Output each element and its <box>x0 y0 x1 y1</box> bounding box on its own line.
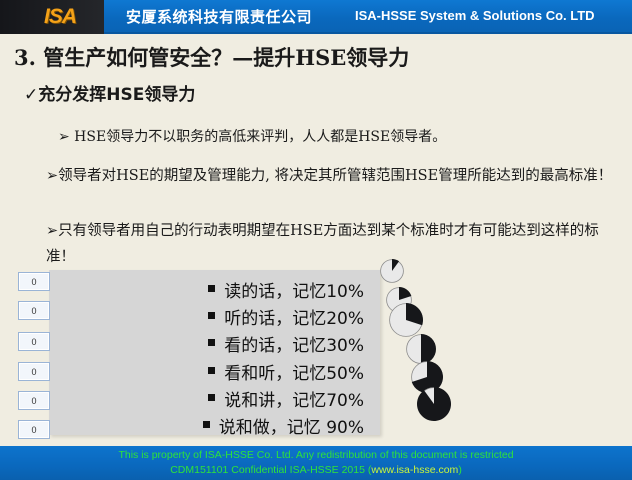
bullet-point-3: ➢只有领导者用自己的行动表明期望在HSE方面达到某个标准时才有可能达到这样的标准… <box>46 218 618 270</box>
image-placeholder-box[interactable]: 0 <box>18 301 50 320</box>
memory-row: 听的话，记忆20% <box>49 303 380 330</box>
image-placeholder-box[interactable]: 0 <box>18 272 50 291</box>
footer-copyright-line: This is property of ISA-HSSE Co. Ltd. An… <box>0 449 632 461</box>
slide-title: 3. 管生产如何管安全？—提升HSE领导力 <box>14 42 409 72</box>
page-header: ISA 安厦系统科技有限责任公司 ISA-HSSE System & Solut… <box>0 0 632 34</box>
footer-website-link[interactable]: www.isa-hsse.com <box>371 464 458 476</box>
memory-row-label: 读的话，记忆10% <box>224 277 364 302</box>
memory-row-label: 看的话，记忆30% <box>224 331 364 356</box>
square-bullet-icon <box>208 367 215 374</box>
footer-doc-id: CDM151101 Confidential ISA-HSSE 2015 ( <box>170 464 371 476</box>
memory-row: 说和做，记忆 90% <box>49 412 380 439</box>
bullet-point-1: ➢ HSE领导力不以职务的高低来评判，人人都是HSE领导者。 <box>58 126 446 146</box>
square-bullet-icon <box>208 394 215 401</box>
memory-row: 说和讲，记忆70% <box>49 385 380 412</box>
slide-subtitle: ✓充分发挥HSE领导力 <box>24 80 195 105</box>
footer-paren-close: ) <box>458 464 462 476</box>
image-placeholder-box[interactable]: 0 <box>18 332 50 351</box>
bullet-point-2: ➢领导者对HSE的期望及管理能力, 将决定其所管辖范围HSE管理所能达到的最高标… <box>46 163 616 189</box>
header-underline <box>104 32 632 34</box>
square-bullet-icon <box>208 312 215 319</box>
header-company-name-en: ISA-HSSE System & Solutions Co. LTD <box>355 8 595 23</box>
pie-chart-90 <box>417 387 451 421</box>
memory-row: 看和听，记忆50% <box>49 358 380 385</box>
isa-logo: ISA <box>27 5 93 29</box>
header-company-name-cn: 安厦系统科技有限责任公司 <box>126 6 312 27</box>
image-placeholder-box[interactable]: 0 <box>18 420 50 439</box>
square-bullet-icon <box>208 285 215 292</box>
image-placeholder-box[interactable]: 0 <box>18 362 50 381</box>
memory-row-label: 说和做，记忆 90% <box>219 413 364 438</box>
memory-row: 看的话，记忆30% <box>49 330 380 357</box>
memory-row-label: 听的话，记忆20% <box>224 304 364 329</box>
pie-chart-30 <box>389 303 423 337</box>
pie-chart-10 <box>380 259 404 283</box>
image-placeholder-box[interactable]: 0 <box>18 391 50 410</box>
memory-row: 读的话，记忆10% <box>49 276 380 303</box>
square-bullet-icon <box>203 421 210 428</box>
memory-row-label: 看和听，记忆50% <box>224 359 364 384</box>
page-footer: This is property of ISA-HSSE Co. Ltd. An… <box>0 446 632 480</box>
memory-row-label: 说和讲，记忆70% <box>224 386 364 411</box>
pie-chart-50 <box>406 334 436 364</box>
footer-confidential-line: CDM151101 Confidential ISA-HSSE 2015 (ww… <box>0 464 632 476</box>
square-bullet-icon <box>208 339 215 346</box>
